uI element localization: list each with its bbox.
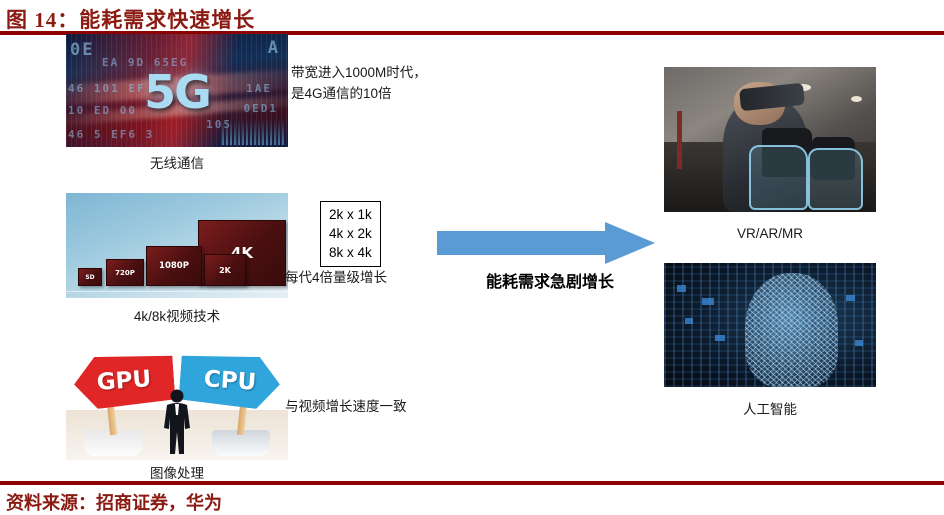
ghost-hand-right (808, 148, 863, 210)
footer-divider (0, 481, 944, 485)
code-text: A (268, 38, 280, 58)
data-block (855, 340, 863, 346)
screen-sd: SD (78, 268, 102, 286)
resolution-row: 8k x 4k (329, 243, 372, 262)
data-block (702, 298, 714, 305)
video-note: 每代4倍量级增长 (285, 268, 387, 289)
screen-1080p: 1080P (146, 246, 202, 286)
data-block (677, 285, 686, 292)
wireless-image: 0E EA 9D 65EG 46 101 EF 10 ED 00 46 5 EF… (66, 34, 288, 147)
red-pillar (677, 111, 682, 169)
graphics-caption: 图像处理 (66, 462, 288, 482)
bandwidth-note: 带宽进入1000M时代， 是4G通信的10倍 (291, 63, 427, 105)
data-block (715, 335, 725, 341)
video-caption: 4k/8k视频技术 (66, 305, 288, 325)
vr-caption: VR/AR/MR (664, 226, 876, 241)
floor-line (66, 291, 288, 292)
graphics-image: GPU CPU (66, 341, 288, 460)
code-text: 1AE (246, 82, 272, 95)
wireless-caption: 无线通信 (66, 152, 288, 172)
code-text: 46 5 EF6 3 (68, 128, 154, 141)
wireframe-head (745, 273, 838, 387)
businessman-silhouette (160, 388, 194, 456)
code-text: 46 101 EF (68, 82, 146, 95)
ghost-hand-left (749, 145, 808, 210)
arrow-label: 能耗需求急剧增长 (455, 268, 645, 292)
data-block (846, 295, 855, 301)
vr-image (664, 67, 876, 212)
page-title: 图 14：能耗需求快速增长 (6, 4, 255, 34)
resolution-row: 2k x 1k (329, 205, 372, 224)
energy-demand-arrow (437, 222, 655, 264)
screen-2k: 2K (204, 254, 246, 286)
resolution-row: 4k x 2k (329, 224, 372, 243)
resolution-box: 2k x 1k 4k x 2k 8k x 4k (320, 201, 381, 267)
source-note: 资料来源：招商证券，华为 (6, 489, 222, 515)
code-text: 10 ED 00 (68, 104, 137, 117)
five-g-logo-text: 5G (144, 65, 210, 119)
ai-image (664, 263, 876, 387)
data-block (685, 318, 693, 324)
video-image: 4K 2K 1080P 720P SD (66, 193, 288, 298)
code-text: 0ED1 (244, 102, 279, 115)
code-text: 0E (70, 40, 94, 60)
signal-bars (222, 119, 284, 145)
ai-caption: 人工智能 (664, 398, 876, 418)
graphics-note: 与视频增长速度一致 (285, 397, 407, 418)
screen-720p: 720P (106, 259, 144, 286)
ceiling-light (851, 96, 862, 102)
arrow-shape (437, 222, 655, 264)
